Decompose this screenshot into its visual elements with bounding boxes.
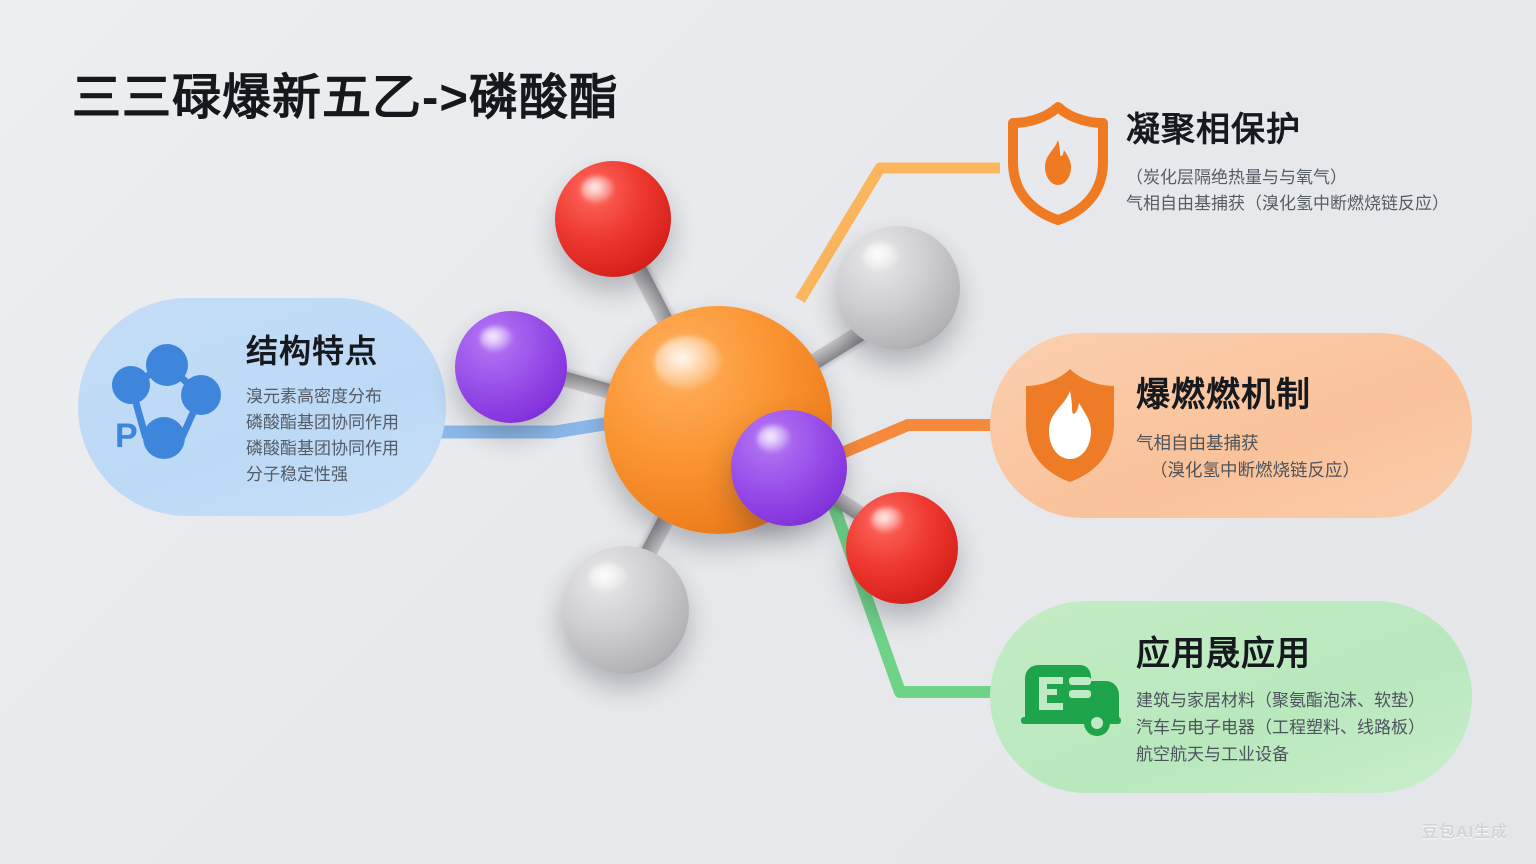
- card-mechanism-lines: 气相自由基捕获 （溴化氢中断燃烧链反应）: [1136, 430, 1472, 484]
- block-condensed-phase-line-2: 气相自由基捕获（溴化氢中断燃烧链反应）: [1126, 191, 1456, 217]
- atom-red-right: [846, 492, 958, 604]
- card-mechanism-line-2: （溴化氢中断燃烧链反应）: [1136, 457, 1472, 484]
- card-applications-title: 应用晟应用: [1136, 626, 1472, 675]
- card-structure-line-1: 溴元素高密度分布: [246, 384, 446, 410]
- card-applications-line-3: 航空航天与工业设备: [1136, 741, 1472, 768]
- atom-purple-left: [455, 311, 567, 423]
- card-structure[interactable]: P 结构特点 溴元素高密度分布 磷酸酯基团协同作用 磷酸酯基团协同作用 分子稳定…: [78, 298, 446, 516]
- card-applications-line-1: 建筑与家居材料（聚氨酯泡沫、软垫）: [1136, 687, 1472, 714]
- atom-grey-bottom: [561, 546, 689, 674]
- truck-icon: [1014, 655, 1130, 739]
- atom-purple-front: [731, 410, 847, 526]
- phosphate-molecule-icon: P: [92, 343, 242, 471]
- block-condensed-phase-title: 凝聚相保护: [1126, 102, 1500, 151]
- block-condensed-phase-body: 凝聚相保护 （炭化层隔绝热量与与氧气） 气相自由基捕获（溴化氢中断燃烧链反应）: [1116, 96, 1500, 218]
- card-applications-line-2: 汽车与电子电器（工程塑料、线路板）: [1136, 714, 1472, 741]
- block-condensed-phase-line-1: （炭化层隔绝热量与与氧气）: [1126, 165, 1456, 191]
- card-structure-title: 结构特点: [246, 326, 446, 372]
- atom-red-top: [555, 161, 671, 277]
- atom-grey-topright: [836, 226, 960, 350]
- svg-text:P: P: [115, 417, 138, 455]
- card-structure-line-3: 磷酸酯基团协同作用: [246, 436, 446, 462]
- card-mechanism-body: 爆燃燃机制 气相自由基捕获 （溴化氢中断燃烧链反应）: [1128, 367, 1472, 484]
- page-title: 三三碌爆新五乙->磷酸酯: [72, 58, 619, 129]
- block-condensed-phase-lines: （炭化层隔绝热量与与氧气） 气相自由基捕获（溴化氢中断燃烧链反应）: [1126, 165, 1456, 218]
- card-applications-lines: 建筑与家居材料（聚氨酯泡沫、软垫） 汽车与电子电器（工程塑料、线路板） 航空航天…: [1136, 687, 1472, 769]
- central-molecule-3d: [430, 150, 1000, 710]
- card-applications[interactable]: 应用晟应用 建筑与家居材料（聚氨酯泡沫、软垫） 汽车与电子电器（工程塑料、线路板…: [990, 601, 1472, 793]
- card-applications-body: 应用晟应用 建筑与家居材料（聚氨酯泡沫、软垫） 汽车与电子电器（工程塑料、线路板…: [1130, 626, 1472, 769]
- card-structure-body: 结构特点 溴元素高密度分布 磷酸酯基团协同作用 磷酸酯基团协同作用 分子稳定性强: [242, 326, 446, 487]
- watermark: 豆包AI生成: [1422, 818, 1508, 842]
- card-mechanism[interactable]: 爆燃燃机制 气相自由基捕获 （溴化氢中断燃烧链反应）: [990, 333, 1472, 518]
- shield-flame-solid-icon: [1012, 365, 1128, 487]
- infographic-stage: 三三碌爆新五乙->磷酸酯 P 结构特点: [0, 0, 1536, 864]
- shield-flame-outline-icon: [1000, 100, 1116, 226]
- card-structure-line-4: 分子稳定性强: [246, 462, 446, 488]
- card-structure-lines: 溴元素高密度分布 磷酸酯基团协同作用 磷酸酯基团协同作用 分子稳定性强: [246, 384, 446, 487]
- card-mechanism-title: 爆燃燃机制: [1136, 367, 1472, 416]
- block-condensed-phase[interactable]: 凝聚相保护 （炭化层隔绝热量与与氧气） 气相自由基捕获（溴化氢中断燃烧链反应）: [1000, 96, 1500, 256]
- card-mechanism-line-1: 气相自由基捕获: [1136, 430, 1472, 457]
- card-structure-line-2: 磷酸酯基团协同作用: [246, 410, 446, 436]
